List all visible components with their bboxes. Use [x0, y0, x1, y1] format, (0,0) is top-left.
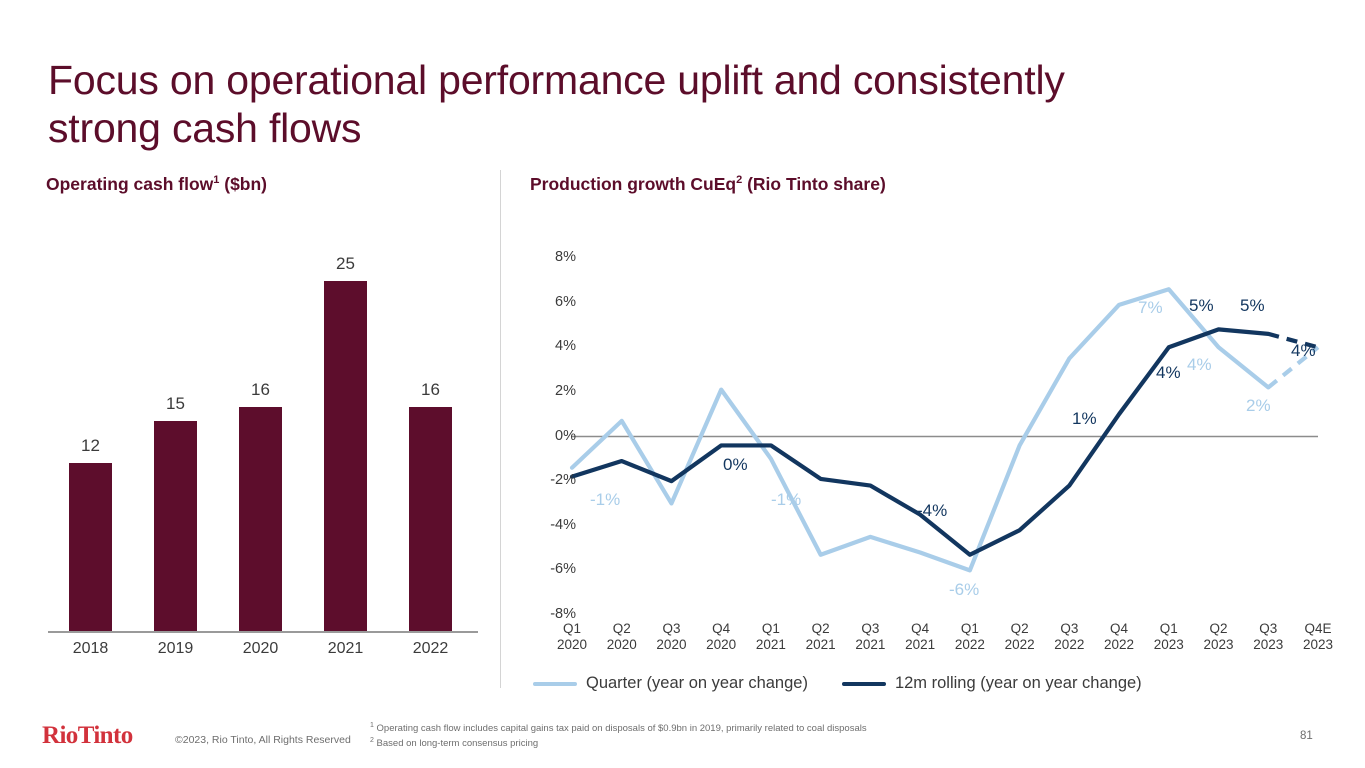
data-point-label: 1%	[1072, 409, 1097, 429]
y-axis-tick-label: 4%	[530, 338, 576, 354]
footnote-row: 2 Based on long-term consensus pricing	[370, 736, 867, 751]
right-panel-subtitle: Production growth CuEq2 (Rio Tinto share…	[530, 174, 886, 195]
x-tick-quarter: Q2	[1011, 621, 1029, 636]
x-tick-quarter: Q1	[961, 621, 979, 636]
x-tick-year: 2023	[1303, 637, 1333, 652]
x-tick-quarter: Q4	[911, 621, 929, 636]
panel-divider	[500, 170, 501, 688]
x-tick-year: 2020	[706, 637, 736, 652]
y-axis-tick-label: 8%	[530, 249, 576, 265]
line-chart-svg	[505, 235, 1350, 635]
data-point-label: -1%	[771, 490, 801, 510]
legend-label: 12m rolling (year on year change)	[895, 674, 1142, 693]
series-line-solid	[572, 289, 1268, 570]
right-subtitle-main: Production growth CuEq	[530, 174, 736, 194]
x-tick-year: 2022	[955, 637, 985, 652]
x-tick-quarter: Q2	[1210, 621, 1228, 636]
x-tick-year: 2022	[1054, 637, 1084, 652]
page-number: 81	[1300, 730, 1313, 742]
right-subtitle-tail: (Rio Tinto share)	[742, 174, 886, 194]
x-tick-year: 2022	[1005, 637, 1035, 652]
x-tick-quarter: Q1	[1160, 621, 1178, 636]
x-tick-quarter: Q4	[1110, 621, 1128, 636]
x-tick-year: 2023	[1253, 637, 1283, 652]
bar-value-label: 16	[388, 380, 473, 400]
x-tick-year: 2021	[806, 637, 836, 652]
legend-label: Quarter (year on year change)	[586, 674, 808, 693]
bar-rect	[409, 407, 452, 631]
copyright-text: ©2023, Rio Tinto, All Rights Reserved	[175, 734, 351, 746]
legend-item[interactable]: 12m rolling (year on year change)	[842, 674, 1142, 693]
data-point-label: 5%	[1189, 296, 1214, 316]
data-point-label: 4%	[1187, 355, 1212, 375]
footnote-text: Based on long-term consensus pricing	[374, 738, 538, 749]
legend-color-swatch	[533, 682, 577, 686]
operating-cash-flow-bar-chart: 122018152019162020252021162022	[40, 240, 485, 660]
bar-axis-baseline	[48, 631, 478, 633]
x-tick-year: 2022	[1104, 637, 1134, 652]
bar-value-label: 16	[218, 380, 303, 400]
x-tick-year: 2020	[656, 637, 686, 652]
bar-value-label: 25	[303, 254, 388, 274]
left-panel-subtitle: Operating cash flow1 ($bn)	[46, 174, 267, 195]
y-axis-tick-label: 0%	[530, 428, 576, 444]
x-tick-year: 2023	[1154, 637, 1184, 652]
bar-rect	[239, 407, 282, 631]
rio-tinto-logo: RioTinto	[42, 722, 133, 750]
x-tick-year: 2021	[756, 637, 786, 652]
x-tick-year: 2021	[905, 637, 935, 652]
x-tick-quarter: Q2	[812, 621, 830, 636]
bar-column: 162022	[388, 240, 473, 632]
legend-item[interactable]: Quarter (year on year change)	[533, 674, 808, 693]
bar-category-label: 2020	[218, 640, 303, 658]
bar-rect	[69, 463, 112, 631]
x-tick-quarter: Q1	[563, 621, 581, 636]
x-tick-quarter: Q3	[861, 621, 879, 636]
bar-column: 122018	[48, 240, 133, 632]
footnote-row: 1 Operating cash flow includes capital g…	[370, 721, 867, 736]
x-tick-quarter: Q2	[613, 621, 631, 636]
x-axis-tick-label: Q4E2023	[1289, 621, 1347, 653]
x-tick-year: 2020	[607, 637, 637, 652]
x-tick-quarter: Q3	[662, 621, 680, 636]
bar-plot-area: 122018152019162020252021162022	[40, 240, 485, 632]
data-point-label: 2%	[1246, 396, 1271, 416]
bar-category-label: 2018	[48, 640, 133, 658]
bar-column: 162020	[218, 240, 303, 632]
bar-value-label: 12	[48, 436, 133, 456]
footnote-text: Operating cash flow includes capital gai…	[374, 723, 867, 734]
x-tick-quarter: Q4	[712, 621, 730, 636]
footnotes: 1 Operating cash flow includes capital g…	[370, 721, 867, 751]
production-growth-line-chart: 8%6%4%2%0%-2%-4%-6%-8%Q12020Q22020Q32020…	[505, 235, 1350, 695]
bar-value-label: 15	[133, 394, 218, 414]
line-chart-legend: Quarter (year on year change)12m rolling…	[533, 674, 1142, 693]
bar-category-label: 2019	[133, 640, 218, 658]
data-point-label: 0%	[723, 455, 748, 475]
y-axis-tick-label: 6%	[530, 294, 576, 310]
data-point-label: 4%	[1156, 363, 1181, 383]
left-subtitle-main: Operating cash flow	[46, 174, 213, 194]
y-axis-tick-label: -4%	[530, 517, 576, 533]
bar-column: 152019	[133, 240, 218, 632]
data-point-label: 4%	[1291, 341, 1316, 361]
x-tick-quarter: Q3	[1259, 621, 1277, 636]
bar-column: 252021	[303, 240, 388, 632]
x-tick-quarter: Q3	[1060, 621, 1078, 636]
bar-rect	[324, 281, 367, 631]
x-tick-year: 2021	[855, 637, 885, 652]
bar-category-label: 2021	[303, 640, 388, 658]
left-subtitle-tail: ($bn)	[219, 174, 267, 194]
x-tick-year: 2023	[1204, 637, 1234, 652]
data-point-label: 5%	[1240, 296, 1265, 316]
y-axis-tick-label: 2%	[530, 383, 576, 399]
x-tick-quarter: Q4E	[1304, 621, 1331, 636]
data-point-label: -4%	[917, 501, 947, 521]
x-tick-year: 2020	[557, 637, 587, 652]
page-title: Focus on operational performance uplift …	[48, 56, 1168, 153]
y-axis-tick-label: -2%	[530, 472, 576, 488]
data-point-label: -1%	[590, 490, 620, 510]
x-tick-quarter: Q1	[762, 621, 780, 636]
data-point-label: -6%	[949, 580, 979, 600]
bar-rect	[154, 421, 197, 631]
slide-canvas: Focus on operational performance uplift …	[0, 0, 1365, 768]
y-axis-tick-label: -6%	[530, 561, 576, 577]
y-axis-tick-label: -8%	[530, 606, 576, 622]
legend-color-swatch	[842, 682, 886, 686]
bar-category-label: 2022	[388, 640, 473, 658]
data-point-label: 7%	[1138, 298, 1163, 318]
